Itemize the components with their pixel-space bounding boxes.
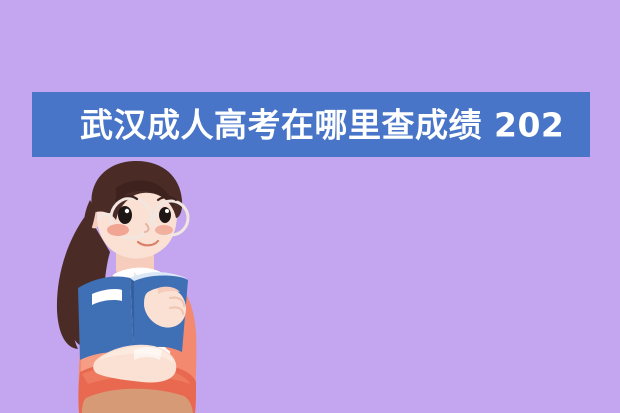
eye-right-highlight	[165, 209, 169, 213]
cheek-left	[107, 224, 129, 236]
eye-left-highlight	[125, 209, 129, 213]
eye-left	[118, 206, 132, 224]
cheek-right	[155, 225, 173, 235]
title-banner: 武汉成人高考在哪里查成绩 202	[32, 92, 590, 157]
eye-right	[159, 207, 171, 223]
thumbnail-canvas: 武汉成人高考在哪里查成绩 202	[0, 0, 620, 413]
page-title: 武汉成人高考在哪里查成绩 202	[80, 108, 564, 141]
woman-reading-book-illustration	[30, 160, 245, 413]
